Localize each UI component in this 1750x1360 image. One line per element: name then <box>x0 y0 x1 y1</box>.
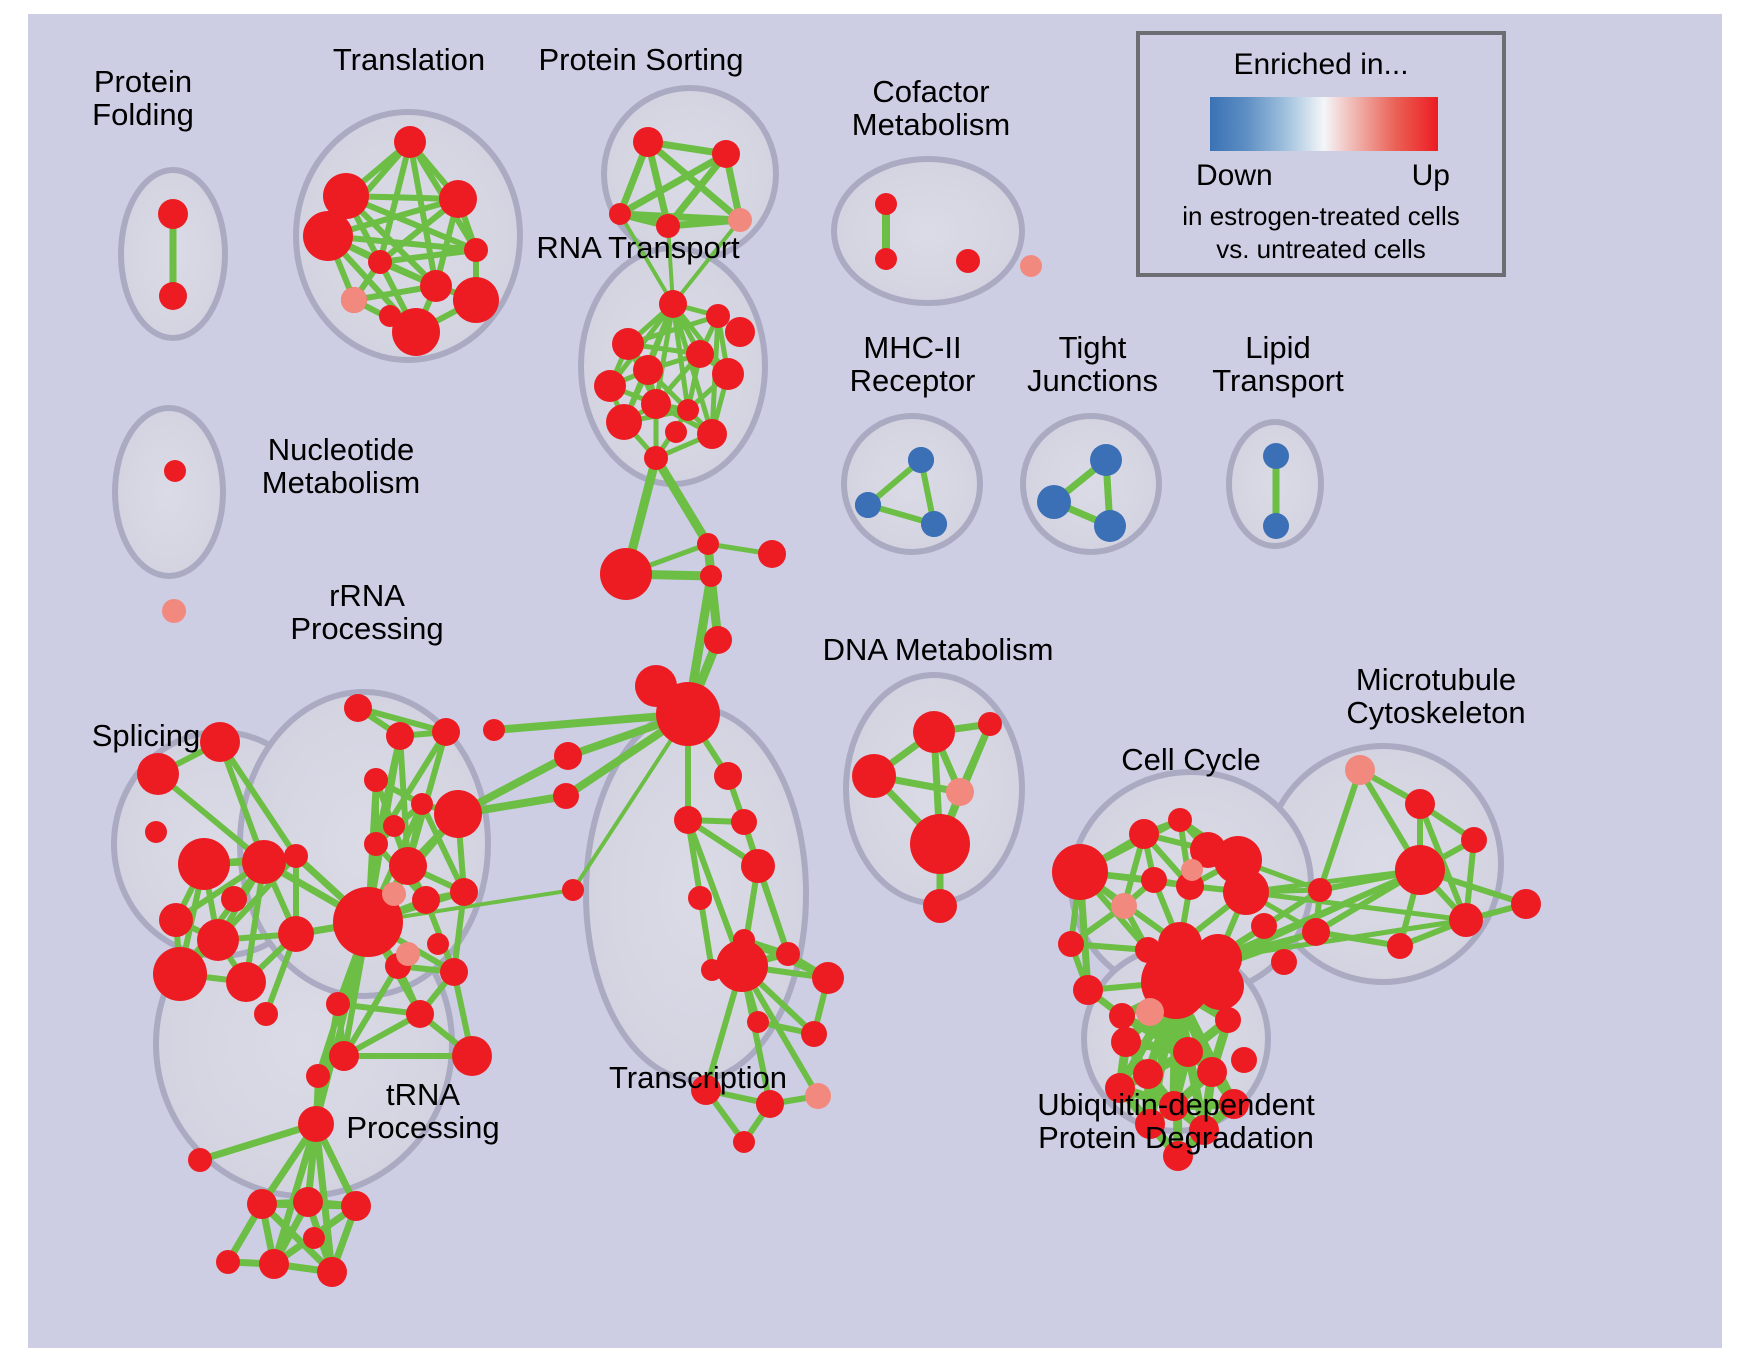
figure-root: Protein Folding Translation Protein Sort… <box>0 0 1750 1360</box>
legend-title: Enriched in... <box>1140 48 1502 82</box>
legend-colorbar <box>1210 97 1438 151</box>
cluster-hull-cofactor-metabolism <box>834 159 1022 303</box>
legend-box: Enriched in... Down Up in estrogen-treat… <box>1136 31 1506 277</box>
cluster-hull-nucleotide-metabolism <box>115 408 223 576</box>
legend-subtitle-line1: in estrogen-treated cells <box>1140 201 1502 232</box>
cluster-hull-tight-junctions <box>1023 416 1159 552</box>
legend-high-label: Up <box>1412 159 1450 193</box>
network-canvas: Protein Folding Translation Protein Sort… <box>28 14 1722 1348</box>
legend-subtitle-line2: vs. untreated cells <box>1140 234 1502 265</box>
legend-low-label: Down <box>1196 159 1273 193</box>
cluster-hull-mhc-ii-receptor <box>844 416 980 552</box>
